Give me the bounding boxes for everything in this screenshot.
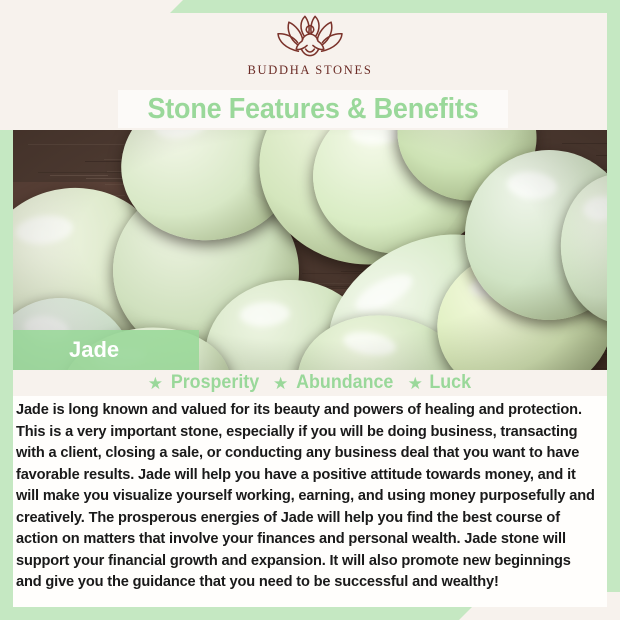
infographic-card: BUDDHA STONES Stone Features & Benefits … [0, 0, 620, 620]
benefit-label: Luck [429, 372, 471, 394]
stone-highlight [506, 169, 559, 201]
wood-grain [38, 172, 133, 173]
photo-caption-band: Jade [13, 330, 199, 370]
stone-photo: Jade [13, 130, 607, 370]
benefit-label: Prosperity [171, 372, 259, 394]
stone-highlight [239, 301, 291, 328]
wood-grain [596, 155, 607, 156]
benefits-row: ★ Prosperity ★ Abundance ★ Luck [13, 372, 607, 394]
wood-grain [50, 175, 108, 176]
benefit-label: Abundance [296, 372, 393, 394]
star-icon: ★ [408, 375, 423, 392]
brand-name: BUDDHA STONES [247, 63, 372, 78]
stone-highlight [341, 328, 397, 359]
stone-highlight [351, 267, 418, 318]
star-icon: ★ [273, 375, 288, 392]
photo-caption-label: Jade [69, 337, 119, 363]
frame-band-right [607, 0, 620, 592]
stone-highlight [349, 130, 405, 147]
frame-band-bottom [0, 607, 472, 620]
title-banner: Stone Features & Benefits [118, 90, 508, 128]
benefit-item: ★ Prosperity [148, 372, 262, 394]
stone-highlight [583, 195, 607, 222]
frame-band-left [0, 130, 13, 620]
lotus-meditation-icon [273, 12, 347, 60]
stone-highlight [14, 213, 74, 247]
page-title: Stone Features & Benefits [147, 93, 478, 126]
stone-highlight [153, 130, 209, 141]
brand-header: BUDDHA STONES [0, 0, 620, 88]
benefit-item: ★ Abundance [273, 372, 397, 394]
wood-grain [562, 143, 607, 144]
description-paragraph: Jade is long known and valued for its be… [13, 396, 607, 607]
benefit-item: ★ Luck [408, 372, 473, 394]
star-icon: ★ [148, 375, 163, 392]
